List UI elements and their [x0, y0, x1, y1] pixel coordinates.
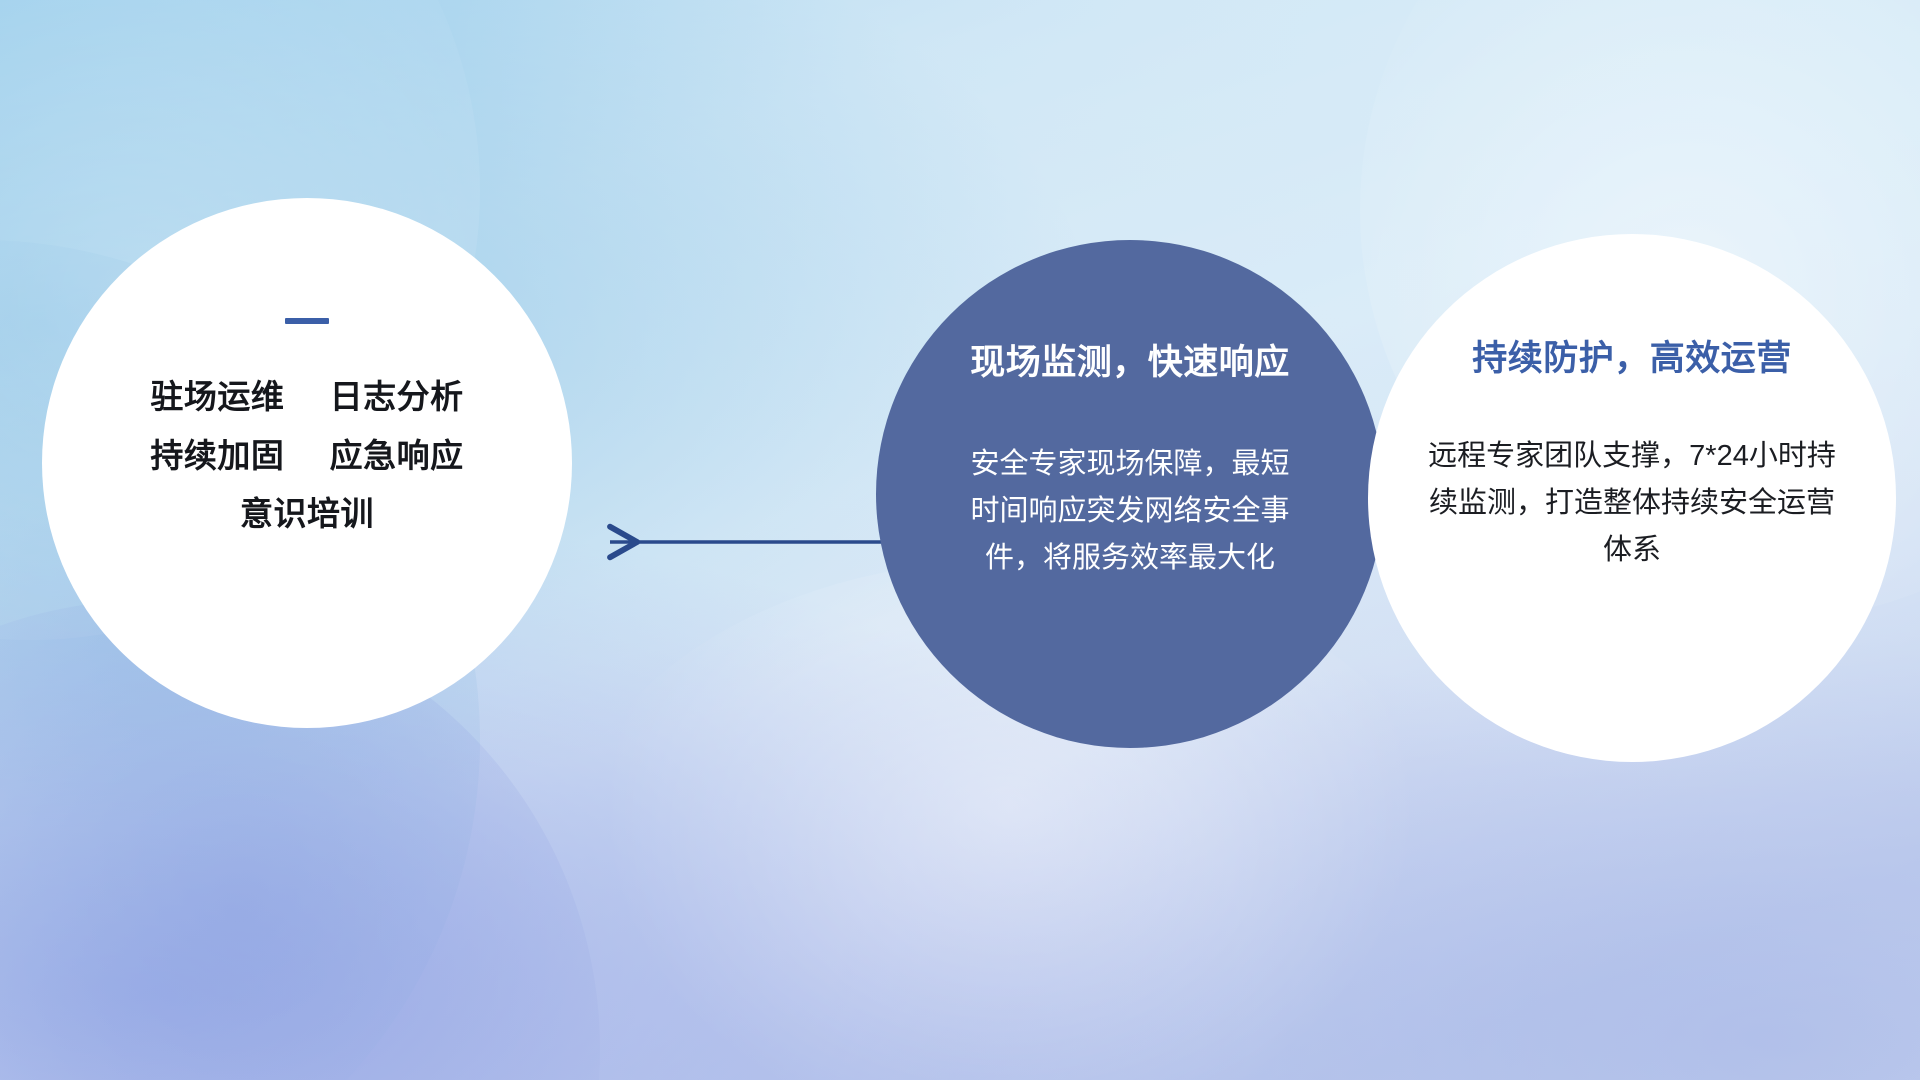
- slide-canvas: 驻场运维 日志分析 持续加固 应急响应 意识培训 现场监测，快速响应 安全专家现…: [0, 0, 1920, 1080]
- divider-dash: [285, 318, 329, 324]
- middle-circle-title: 现场监测，快速响应: [970, 334, 1290, 385]
- capability-list: 驻场运维 日志分析 持续加固 应急响应 意识培训: [150, 368, 463, 544]
- capability-item-log-analysis: 日志分析: [330, 378, 464, 415]
- capability-row: 持续加固 应急响应: [150, 427, 463, 486]
- capability-item-awareness-training: 意识培训: [240, 495, 374, 532]
- capability-row: 驻场运维 日志分析: [150, 368, 463, 427]
- middle-circle-body: 安全专家现场保障，最短时间响应突发网络安全事件，将服务效率最大化: [965, 441, 1295, 582]
- right-circle-title: 持续防护，高效运营: [1472, 330, 1792, 381]
- capability-item-emergency-response: 应急响应: [330, 437, 464, 474]
- connector-arrow: [596, 512, 896, 572]
- capability-item-onsite-ops: 驻场运维: [150, 378, 284, 415]
- capability-row: 意识培训: [150, 485, 463, 544]
- right-operations-circle[interactable]: 持续防护，高效运营 远程专家团队支撑，7*24小时持续监测，打造整体持续安全运营…: [1368, 234, 1896, 762]
- left-capability-circle[interactable]: 驻场运维 日志分析 持续加固 应急响应 意识培训: [42, 198, 572, 728]
- middle-onsite-circle[interactable]: 现场监测，快速响应 安全专家现场保障，最短时间响应突发网络安全事件，将服务效率最…: [876, 240, 1384, 748]
- right-circle-body: 远程专家团队支撑，7*24小时持续监测，打造整体持续安全运营体系: [1422, 433, 1842, 574]
- capability-item-continuous-hardening: 持续加固: [150, 437, 284, 474]
